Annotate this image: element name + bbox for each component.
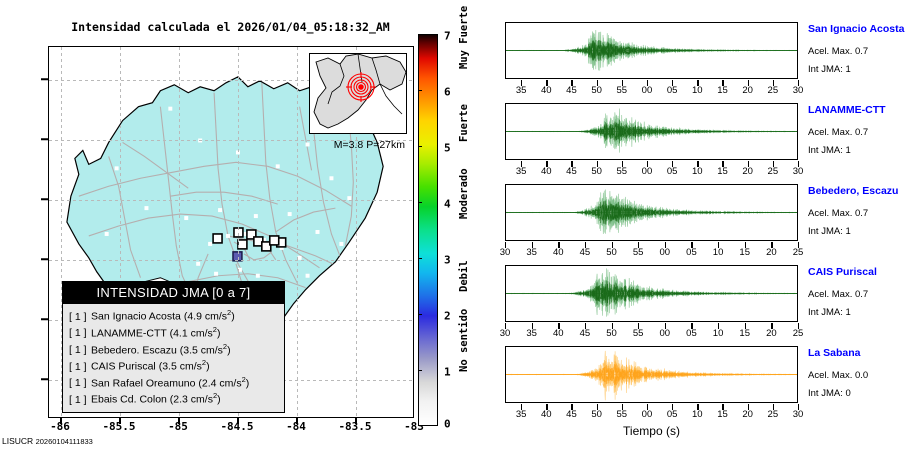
- y-axis-tick: [41, 258, 48, 260]
- time-axis-tick-label: 40: [535, 85, 557, 96]
- waveform-plot[interactable]: [505, 346, 798, 403]
- accel-max-label: Acel. Max. 0.7: [808, 208, 868, 219]
- legend-station: San Ignacio Acosta: [91, 311, 181, 323]
- list-item: [ 1 ]LANAMME-CTT (4.1 cm/s2): [69, 325, 280, 342]
- colorbar-tick-label: 3: [444, 254, 451, 267]
- gridline-h: [49, 260, 413, 261]
- waveform-trace: [506, 347, 797, 402]
- legend-index: [ 1 ]: [69, 310, 91, 325]
- time-axis-tick-label: 00: [654, 328, 676, 339]
- map-plot-area[interactable]: M=3.8 P=27km INTENSIDAD JMA [0 a 7] [ 1 …: [48, 46, 414, 418]
- seismogram-panels: 354045505500051015202530San Ignacio Acos…: [495, 0, 910, 460]
- time-axis-tick-label: 25: [762, 409, 784, 420]
- y-axis-tick: [41, 318, 48, 320]
- station-name-label[interactable]: LANAMME-CTT: [808, 104, 886, 116]
- y-axis-tick: [41, 138, 48, 140]
- time-axis-tick-label: 00: [636, 409, 658, 420]
- time-axis-tick-label: 45: [574, 328, 596, 339]
- time-axis-tick-label: 50: [586, 166, 608, 177]
- time-axis-tick-label: 20: [760, 328, 782, 339]
- intensity-legend: INTENSIDAD JMA [0 a 7] [ 1 ]San Ignacio …: [62, 281, 285, 413]
- time-axis-tick-label: 30: [787, 409, 809, 420]
- colorbar-category-label: Muy Fuerte: [458, 7, 470, 69]
- time-axis-tick-label: 30: [494, 247, 516, 258]
- waveform-plot[interactable]: [505, 184, 798, 241]
- time-axis-tick-label: 25: [787, 328, 809, 339]
- time-axis-tick-label: 35: [510, 409, 532, 420]
- time-axis: 303540455055000510152025: [505, 323, 798, 341]
- legend-close: ): [217, 327, 221, 339]
- legend-value: (4.9 cm/s: [184, 311, 227, 323]
- time-axis-tick-label: 45: [560, 166, 582, 177]
- time-axis: 354045505500051015202530: [505, 80, 798, 98]
- legend-close: ): [206, 361, 210, 373]
- waveform-trace: [506, 185, 797, 240]
- list-item: [ 1 ]San Ignacio Acosta (4.9 cm/s2): [69, 308, 280, 325]
- time-axis-tick-label: 05: [680, 247, 702, 258]
- colorbar-tick-label: 4: [444, 198, 451, 211]
- locator-inset-map[interactable]: [309, 53, 407, 134]
- time-axis-tick-label: 10: [707, 247, 729, 258]
- inset-map-shape: [310, 54, 406, 133]
- colorbar-tick-label: 6: [444, 86, 451, 99]
- time-axis-tick-label: 40: [547, 247, 569, 258]
- legend-value: (3.5 cm/s: [180, 344, 223, 356]
- legend-index: [ 1 ]: [69, 326, 91, 341]
- legend-title: INTENSIDAD JMA [0 a 7]: [63, 282, 284, 304]
- colorbar-tick-label: 5: [444, 142, 451, 155]
- legend-value: (2.4 cm/s: [198, 377, 241, 389]
- accel-max-label: Acel. Max. 0.0: [808, 370, 868, 381]
- waveform-plot[interactable]: [505, 103, 798, 160]
- colorbar-tick-label: 7: [444, 30, 451, 43]
- legend-list: [ 1 ]San Ignacio Acosta (4.9 cm/s2) [ 1 …: [63, 304, 284, 412]
- legend-index: [ 1 ]: [69, 343, 91, 358]
- time-axis-tick-label: 05: [661, 409, 683, 420]
- waveform-plot[interactable]: [505, 22, 798, 79]
- time-axis-tick-label: 55: [611, 409, 633, 420]
- int-jma-label: Int JMA: 1: [808, 64, 851, 75]
- colorbar-gradient: [418, 34, 438, 426]
- station-name-label[interactable]: Bebedero, Escazu: [808, 185, 898, 197]
- y-axis-tick: [41, 198, 48, 200]
- list-item: [ 1 ]Ebais Cd. Colon (2.3 cm/s2): [69, 391, 280, 408]
- waveform-trace: [506, 23, 797, 78]
- x-axis-label: Tiempo (s): [505, 424, 798, 438]
- time-axis-tick-label: 50: [586, 409, 608, 420]
- legend-station: Bebedero. Escazu: [91, 344, 177, 356]
- accel-max-label: Acel. Max. 0.7: [808, 46, 868, 57]
- waveform-trace: [506, 104, 797, 159]
- watermark-org: LISUCR: [2, 436, 33, 446]
- time-axis-tick-label: 20: [737, 166, 759, 177]
- legend-close: ): [246, 377, 250, 389]
- y-axis-tick: [41, 378, 48, 380]
- time-axis-tick-label: 35: [521, 247, 543, 258]
- int-jma-label: Int JMA: 0: [808, 388, 851, 399]
- time-axis-tick-label: 30: [787, 166, 809, 177]
- time-axis: 354045505500051015202530: [505, 404, 798, 422]
- colorbar-category-label: No sentido: [458, 288, 470, 372]
- time-axis-tick-label: 45: [574, 247, 596, 258]
- colorbar-tick-label: 2: [444, 310, 451, 323]
- event-magnitude-depth: M=3.8 P=27km: [334, 139, 405, 151]
- watermark-code: 20260104111833: [36, 437, 93, 446]
- gridline-h: [49, 200, 413, 201]
- time-axis-tick-label: 45: [560, 409, 582, 420]
- legend-station: Ebais Cd. Colon: [91, 394, 167, 406]
- legend-index: [ 1 ]: [69, 360, 91, 375]
- time-axis-tick-label: 25: [762, 85, 784, 96]
- time-axis-tick-label: 25: [762, 166, 784, 177]
- legend-station: CAIS Puriscal: [91, 361, 156, 373]
- time-axis-tick-label: 35: [521, 328, 543, 339]
- time-axis-tick-label: 10: [686, 409, 708, 420]
- time-axis-tick-label: 50: [586, 85, 608, 96]
- time-axis-tick-label: 00: [654, 247, 676, 258]
- time-axis-tick-label: 20: [737, 85, 759, 96]
- map-panel: Intensidad calculada el 2026/01/04_05:18…: [0, 0, 470, 460]
- x-axis-tick: [296, 418, 298, 424]
- legend-station: LANAMME-CTT: [91, 327, 167, 339]
- list-item: [ 1 ]Bebedero. Escazu (3.5 cm/s2): [69, 342, 280, 359]
- time-axis-tick-label: 20: [737, 409, 759, 420]
- station-name-label[interactable]: La Sabana: [808, 347, 861, 359]
- time-axis-tick-label: 30: [787, 85, 809, 96]
- time-axis-tick-label: 50: [601, 247, 623, 258]
- gridline-v: [297, 47, 298, 417]
- watermark: LISUCR 20260104111833: [2, 436, 93, 446]
- time-axis-tick-label: 10: [686, 166, 708, 177]
- time-axis-tick-label: 35: [510, 85, 532, 96]
- legend-index: [ 1 ]: [69, 393, 91, 408]
- intensity-colorbar[interactable]: 7 6 5 4 3 2 1 0 Muy Fuerte Fuerte Modera…: [418, 34, 438, 426]
- time-axis-tick-label: 15: [711, 409, 733, 420]
- y-axis-tick: [41, 78, 48, 80]
- time-axis-tick-label: 30: [494, 328, 516, 339]
- waveform-plot[interactable]: [505, 265, 798, 322]
- time-axis-tick-label: 00: [636, 166, 658, 177]
- time-axis: 354045505500051015202530: [505, 161, 798, 179]
- x-axis-tick: [60, 418, 62, 424]
- legend-value: (3.5 cm/s: [159, 361, 202, 373]
- time-axis-tick-label: 35: [510, 166, 532, 177]
- time-axis-tick-label: 55: [611, 166, 633, 177]
- legend-value: (2.3 cm/s: [170, 394, 213, 406]
- x-axis-tick: [178, 418, 180, 424]
- accel-max-label: Acel. Max. 0.7: [808, 289, 868, 300]
- legend-value: (4.1 cm/s: [170, 327, 213, 339]
- time-axis-tick-label: 05: [661, 85, 683, 96]
- colorbar-category-label: Debil: [458, 240, 470, 292]
- colorbar-category-label: Moderado: [458, 149, 470, 219]
- time-axis-tick-label: 40: [535, 409, 557, 420]
- time-axis-tick-label: 15: [711, 85, 733, 96]
- time-axis: 303540455055000510152025: [505, 242, 798, 260]
- time-axis-tick-label: 45: [560, 85, 582, 96]
- x-axis-tick: [119, 418, 121, 424]
- legend-close: ): [227, 344, 231, 356]
- x-axis-tick: [355, 418, 357, 424]
- time-axis-tick-label: 00: [636, 85, 658, 96]
- int-jma-label: Int JMA: 1: [808, 226, 851, 237]
- time-axis-tick-label: 05: [680, 328, 702, 339]
- legend-close: ): [231, 311, 235, 323]
- station-name-label[interactable]: CAIS Puriscal: [808, 266, 877, 278]
- int-jma-label: Int JMA: 1: [808, 145, 851, 156]
- accel-max-label: Acel. Max. 0.7: [808, 127, 868, 138]
- list-item: [ 1 ]San Rafael Oreamuno (2.4 cm/s2): [69, 375, 280, 392]
- time-axis-tick-label: 40: [535, 166, 557, 177]
- legend-station: San Rafael Oreamuno: [91, 377, 195, 389]
- legend-close: ): [217, 394, 221, 406]
- time-axis-tick-label: 40: [547, 328, 569, 339]
- page-title: Intensidad calculada el 2026/01/04_05:18…: [48, 20, 413, 34]
- time-axis-tick-label: 25: [787, 247, 809, 258]
- int-jma-label: Int JMA: 1: [808, 307, 851, 318]
- legend-index: [ 1 ]: [69, 376, 91, 391]
- time-axis-tick-label: 20: [760, 247, 782, 258]
- time-axis-tick-label: 55: [627, 247, 649, 258]
- time-axis-tick-label: 55: [611, 85, 633, 96]
- time-axis-tick-label: 55: [627, 328, 649, 339]
- time-axis-tick-label: 15: [734, 328, 756, 339]
- waveform-trace: [506, 266, 797, 321]
- time-axis-tick-label: 50: [601, 328, 623, 339]
- time-axis-tick-label: 10: [686, 85, 708, 96]
- time-axis-tick-label: 10: [707, 328, 729, 339]
- time-axis-tick-label: 15: [734, 247, 756, 258]
- colorbar-tick-label: 1: [444, 366, 451, 379]
- time-axis-tick-label: 15: [711, 166, 733, 177]
- list-item: [ 1 ]CAIS Puriscal (3.5 cm/s2): [69, 358, 280, 375]
- station-name-label[interactable]: San Ignacio Acosta: [808, 23, 904, 35]
- colorbar-tick-label: 0: [444, 418, 451, 431]
- x-axis-tick: [237, 418, 239, 424]
- colorbar-category-label: Fuerte: [458, 86, 470, 142]
- time-axis-tick-label: 05: [661, 166, 683, 177]
